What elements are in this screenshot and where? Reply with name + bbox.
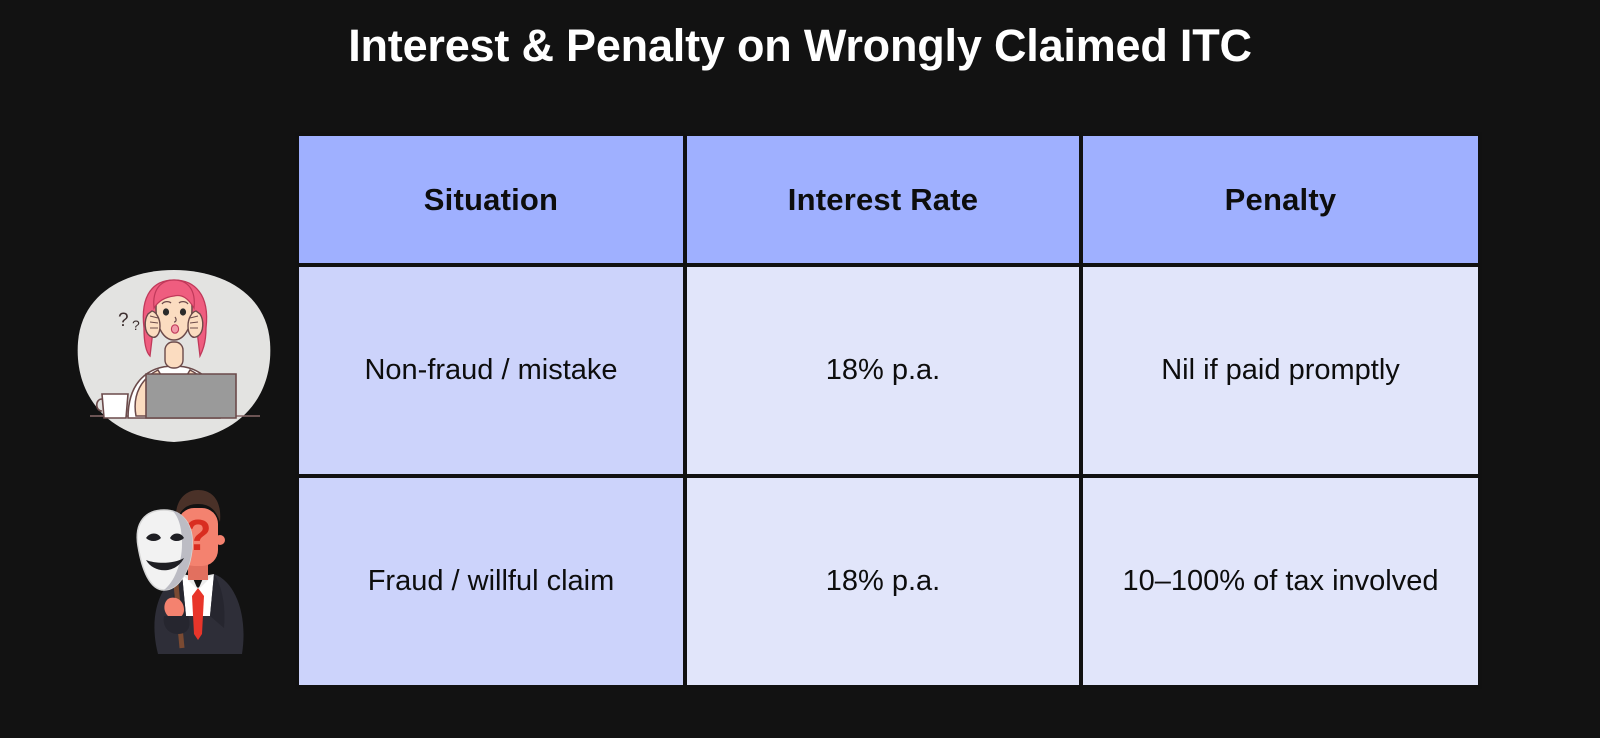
masked-fraudster-illustration: ?	[124, 476, 272, 654]
column-header-interest-rate: Interest Rate	[685, 134, 1081, 265]
table-row: Non-fraud / mistake 18% p.a. Nil if paid…	[297, 265, 1480, 476]
table-body: Non-fraud / mistake 18% p.a. Nil if paid…	[297, 265, 1480, 687]
table-row: Fraud / willful claim 18% p.a. 10–100% o…	[297, 476, 1480, 687]
cell-penalty-fraud: 10–100% of tax involved	[1081, 476, 1480, 687]
header-row: Situation Interest Rate Penalty	[297, 134, 1480, 265]
cell-situation-fraud: Fraud / willful claim	[297, 476, 685, 687]
cell-interest-rate-non-fraud: 18% p.a.	[685, 265, 1081, 476]
coffee-mug	[102, 394, 128, 418]
question-mark-large: ?	[118, 310, 129, 331]
table-header: Situation Interest Rate Penalty	[297, 134, 1480, 265]
laptop	[146, 374, 236, 418]
column-header-penalty: Penalty	[1081, 134, 1480, 265]
page-title: Interest & Penalty on Wrongly Claimed IT…	[0, 20, 1600, 72]
question-mark-small: ?	[132, 317, 140, 333]
column-header-situation: Situation	[297, 134, 685, 265]
cell-situation-non-fraud: Non-fraud / mistake	[297, 265, 685, 476]
confused-woman-illustration: ? ?	[70, 266, 278, 451]
cell-interest-rate-fraud: 18% p.a.	[685, 476, 1081, 687]
interest-penalty-table: Situation Interest Rate Penalty Non-frau…	[295, 132, 1482, 689]
cell-penalty-non-fraud: Nil if paid promptly	[1081, 265, 1480, 476]
